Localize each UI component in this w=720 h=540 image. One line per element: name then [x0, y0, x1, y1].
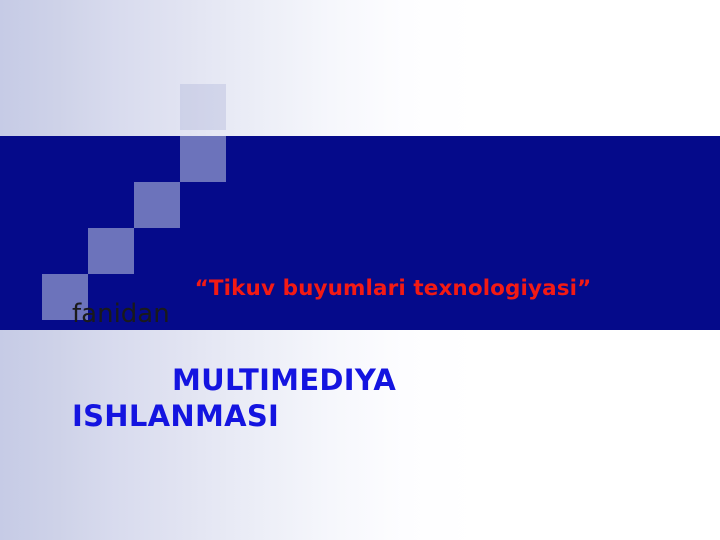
decorative-square — [180, 136, 226, 182]
headline-line-1: MULTIMEDIYA — [66, 363, 706, 399]
decorative-square — [180, 84, 226, 130]
title-slide: “Tikuv buyumlari texnologiyasi” fanidan … — [0, 0, 720, 540]
slide-headline: MULTIMEDIYA ISHLANMASI — [66, 363, 706, 434]
decorative-square — [134, 182, 180, 228]
subject-suffix-label: fanidan — [72, 301, 170, 327]
decorative-square — [88, 228, 134, 274]
course-title: “Tikuv buyumlari texnologiyasi” — [0, 276, 720, 301]
headline-line-2: ISHLANMASI — [66, 399, 706, 435]
